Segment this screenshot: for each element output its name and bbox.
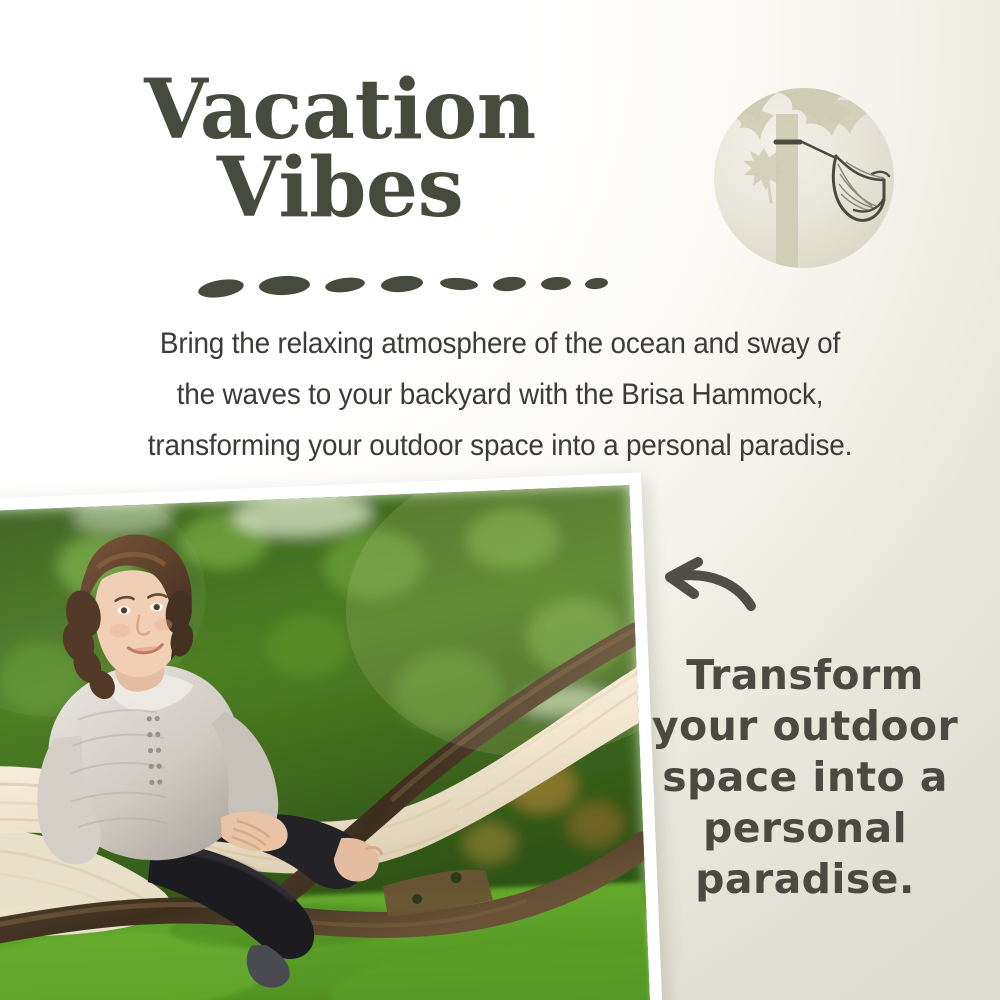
divider-dash	[584, 277, 608, 290]
callout-line-2: your outdoor	[640, 701, 970, 752]
body-copy-line-2: the waves to your backyard with the Bris…	[82, 369, 919, 420]
photo-card	[0, 473, 663, 1000]
divider-dash	[259, 275, 311, 297]
header-zone: Vacation Vibes	[0, 0, 1000, 305]
badge-illustration	[714, 88, 894, 268]
body-copy: Bring the relaxing atmosphere of the oce…	[82, 318, 919, 471]
divider-dash	[324, 276, 365, 295]
callout-line-1: Transform	[640, 650, 970, 701]
callout-text: Transform your outdoor space into a pers…	[640, 650, 970, 905]
title-line-2: Vibes	[40, 150, 640, 226]
callout-line-4: personal	[640, 803, 970, 854]
hammock-under-tree-badge-icon	[714, 88, 894, 268]
curved-arrow-left-icon	[648, 556, 758, 618]
divider-dash	[492, 275, 526, 292]
callout-line-3: space into a	[640, 752, 970, 803]
body-copy-line-3: transforming your outdoor space into a p…	[82, 420, 919, 471]
divider-dash	[440, 277, 479, 292]
body-copy-line-1: Bring the relaxing atmosphere of the oce…	[82, 318, 919, 369]
divider-dash	[380, 274, 423, 294]
callout-line-5: paradise.	[640, 854, 970, 905]
vacation-vibes-poster: Vacation Vibes	[0, 0, 1000, 1000]
divider-dash	[541, 276, 572, 291]
photo-illustration	[0, 485, 650, 1000]
page-title: Vacation Vibes	[40, 72, 640, 227]
hand-drawn-dash-divider	[198, 272, 618, 298]
woman-relaxing-in-brisa-hammock-photo	[0, 485, 650, 1000]
divider-dash	[197, 277, 245, 301]
title-line-1: Vacation	[40, 72, 640, 148]
